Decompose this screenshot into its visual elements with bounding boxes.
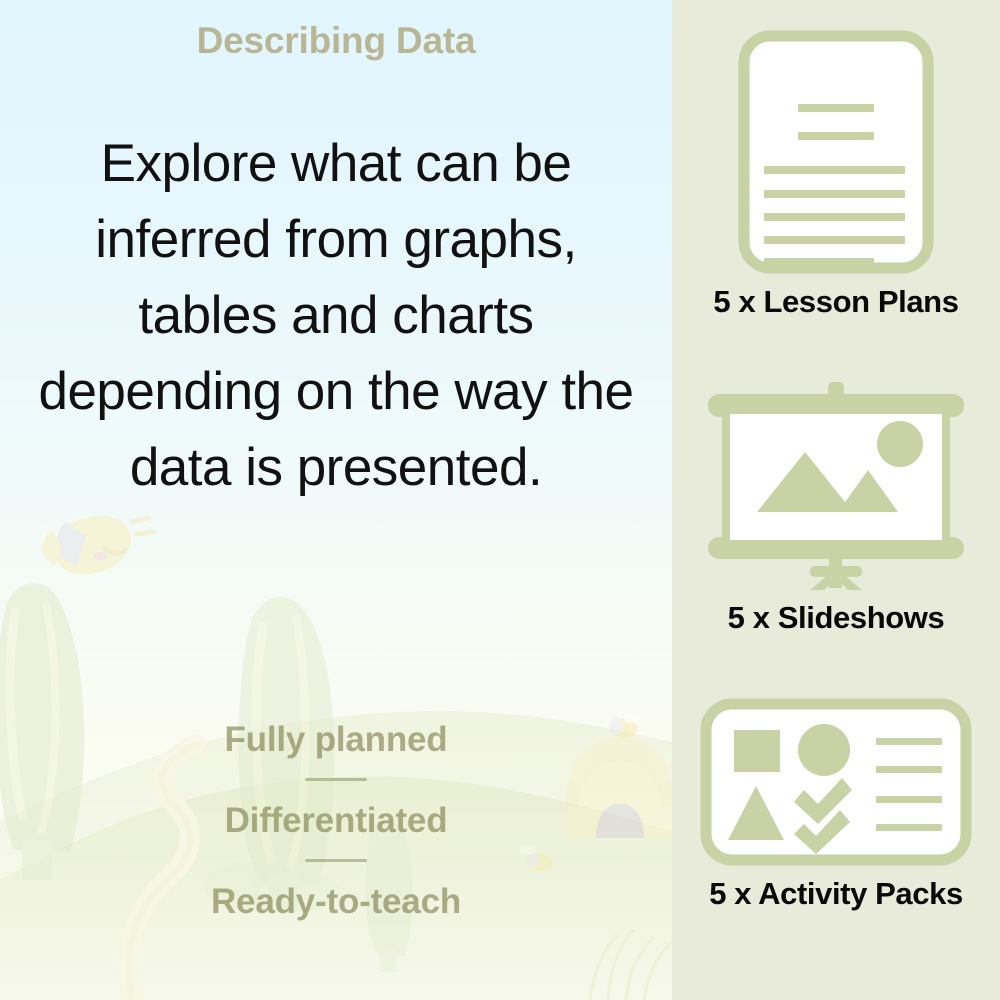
product-item-activity-packs[interactable]: 5 x Activity Packs [672,698,1000,912]
tagline-ready-to-teach: Ready-to-teach [0,880,672,924]
tagline-group: Fully planned Differentiated Ready-to-te… [0,718,672,924]
product-label-activity-packs: 5 x Activity Packs [709,876,963,912]
product-item-lesson-plans[interactable]: 5 x Lesson Plans [672,30,1000,320]
product-list-panel: 5 x Lesson Plans [672,0,1000,1000]
tagline-divider [305,859,367,862]
grass-tufts [590,930,672,1000]
activity-pack-card-icon [700,698,972,866]
left-content-panel: Describing Data Explore what can be infe… [0,0,672,1000]
tagline-differentiated: Differentiated [0,799,672,843]
promo-graphic-root: Describing Data Explore what can be infe… [0,0,1000,1000]
lesson-plan-document-icon [738,30,934,274]
product-label-lesson-plans: 5 x Lesson Plans [713,284,958,320]
page-title: Describing Data [0,20,672,62]
main-description-text: Explore what can be inferred from graphs… [30,126,642,506]
slideshow-projector-screen-icon [700,382,972,590]
product-label-slideshows: 5 x Slideshows [728,600,945,636]
bee-illustration [33,507,154,583]
tagline-divider [305,778,367,781]
tagline-fully-planned: Fully planned [0,718,672,762]
product-item-slideshows[interactable]: 5 x Slideshows [672,382,1000,636]
